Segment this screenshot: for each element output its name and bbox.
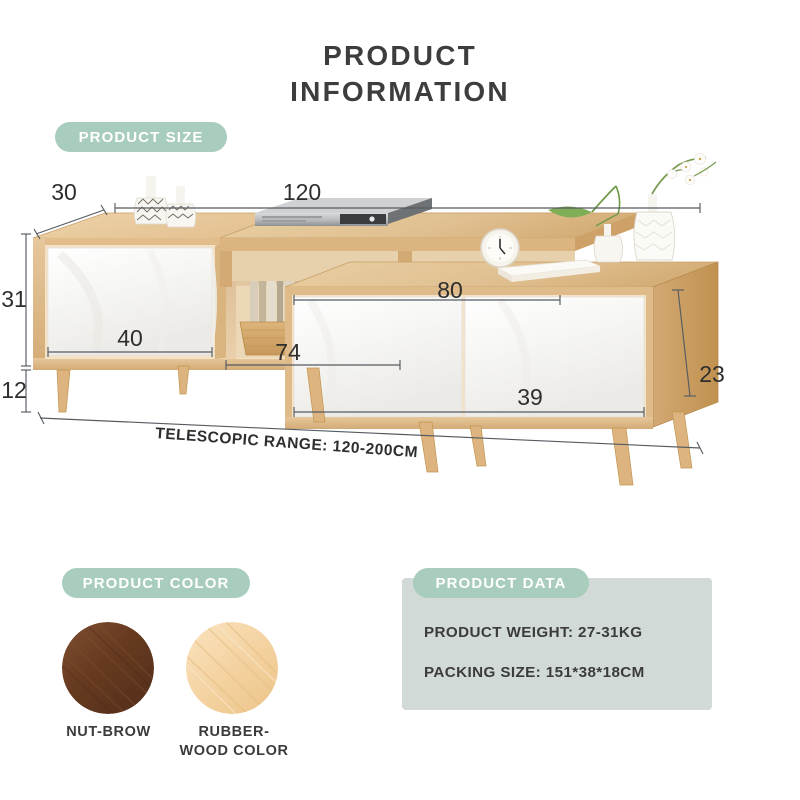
- product-weight-text: PRODUCT WEIGHT: 27-31KG: [424, 624, 642, 641]
- section-badge-product-color: PRODUCT COLOR: [62, 568, 250, 598]
- dimension-mid-width: 80: [437, 277, 463, 303]
- product-information-page: PRODUCT INFORMATION PRODUCT SIZE: [0, 0, 800, 800]
- telescopic-range-note: TELESCOPIC RANGE: 120-200CM: [155, 425, 419, 461]
- dimension-door-width: 40: [117, 325, 143, 351]
- page-title: PRODUCT INFORMATION: [0, 38, 800, 110]
- dimension-shelf-width: 74: [275, 339, 301, 365]
- color-label-nut-brown: NUT-BROW: [36, 723, 181, 742]
- color-label-rubber-wood-line-2: WOOD COLOR: [166, 742, 302, 761]
- dimension-drawer-width: 39: [517, 384, 543, 410]
- page-title-line-2: INFORMATION: [0, 74, 800, 110]
- page-title-line-1: PRODUCT: [0, 38, 800, 74]
- packing-size-text: PACKING SIZE: 151*38*18CM: [424, 664, 645, 681]
- dimension-side-depth: 23: [699, 361, 725, 387]
- dimension-leg-height: 12: [1, 377, 27, 403]
- section-badge-product-size: PRODUCT SIZE: [55, 122, 227, 152]
- dimension-width-top: 120: [283, 179, 321, 205]
- dimension-height-left: 31: [1, 286, 27, 312]
- section-badge-product-data: PRODUCT DATA: [413, 568, 589, 598]
- color-label-rubber-wood: RUBBER- WOOD COLOR: [166, 723, 302, 761]
- product-size-diagram: 30 120 31 12 40 74: [0, 150, 800, 500]
- color-swatch-rubber-wood[interactable]: [186, 622, 278, 714]
- color-label-rubber-wood-line-1: RUBBER-: [166, 723, 302, 742]
- dimension-depth-top: 30: [51, 179, 77, 205]
- color-swatch-nut-brown[interactable]: [62, 622, 154, 714]
